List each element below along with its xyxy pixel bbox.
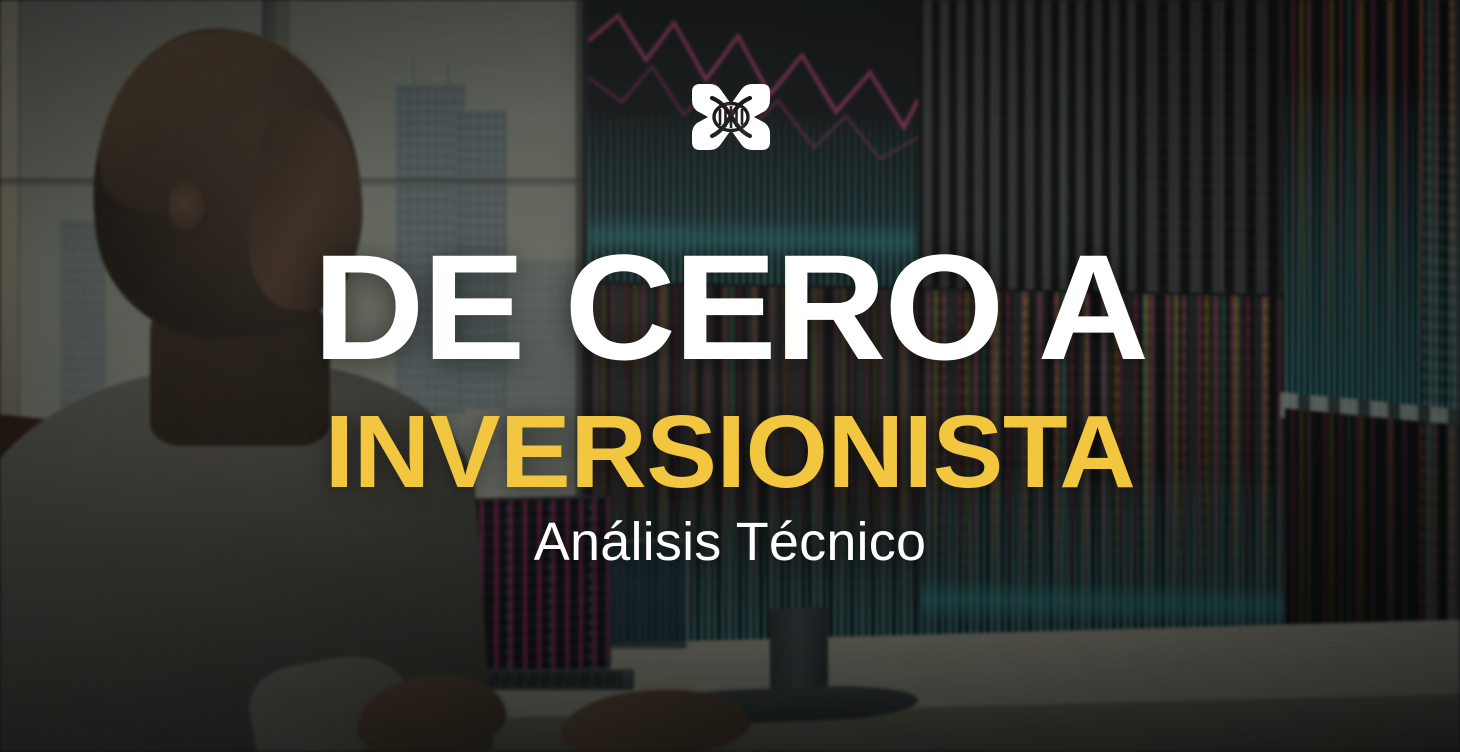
page-subtitle: Análisis Técnico bbox=[0, 512, 1460, 572]
headline-line-1: DE CERO A bbox=[0, 232, 1460, 382]
x-dna-helix-icon bbox=[686, 82, 776, 152]
headline-line-2: INVERSIONISTA bbox=[0, 400, 1460, 503]
title-card: DE CERO A INVERSIONISTA Análisis Técnico bbox=[0, 0, 1460, 752]
